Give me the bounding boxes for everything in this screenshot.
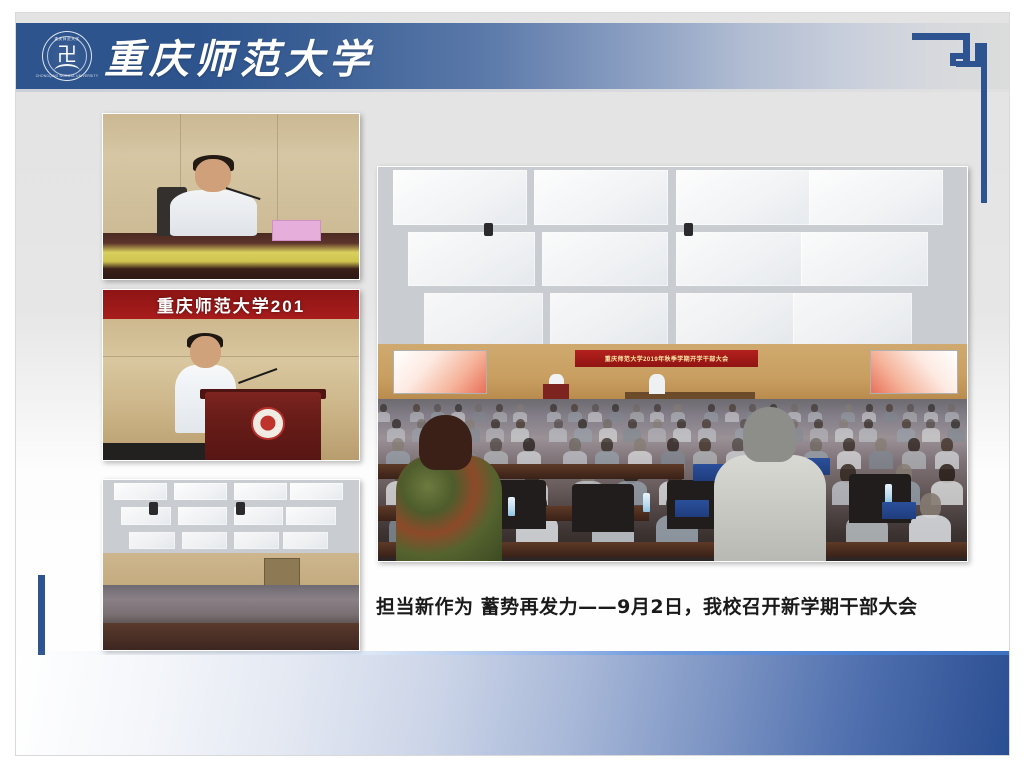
photo-hall-main: 重庆师范大学2019年秋季学期开学干部大会 (377, 166, 968, 562)
ceiling-light-panel (234, 483, 287, 500)
ceiling-speaker-icon (236, 502, 245, 515)
photo-speaker-table (102, 113, 360, 280)
water-bottle (643, 493, 650, 512)
ceiling-speaker-icon (484, 223, 493, 236)
conference-chair (572, 484, 634, 533)
main-foreground-man (714, 455, 826, 561)
water-bottle (885, 484, 892, 503)
ceiling-light-panel (534, 170, 668, 225)
emblem-book-shape (54, 64, 80, 71)
audience-person-body (859, 428, 877, 442)
ceiling-light-panel (542, 232, 669, 287)
slide-caption: 担当新作为 蓄势再发力——9月2日，我校召开新学期干部大会 (376, 585, 976, 625)
ceiling-light-panel (286, 507, 335, 524)
ceiling-light-panel (283, 532, 328, 549)
audience-person-body (922, 428, 940, 442)
ceiling-light-panel (809, 170, 943, 225)
audience-person-body (549, 428, 567, 442)
audience-person-body (869, 451, 893, 469)
ceiling-speaker-icon (684, 223, 693, 236)
photo1-name-card (272, 220, 321, 241)
ceiling-light-panel (676, 293, 795, 348)
delegate-name-card (675, 500, 709, 517)
ceiling-light-panel (424, 293, 543, 348)
ceiling-light-panel (121, 507, 170, 524)
ceiling-light-panel (182, 532, 227, 549)
ceiling-light-panel (393, 170, 527, 225)
delegate-name-card (882, 502, 916, 519)
main-ceiling-grid (378, 167, 967, 352)
ceiling-light-panel (408, 232, 535, 287)
audience-person-body (377, 412, 390, 423)
ceiling-light-panel (550, 293, 669, 348)
ceiling-light-panel (801, 232, 928, 287)
ceiling-light-panel (114, 483, 167, 500)
audience-person-body (725, 412, 739, 423)
main-foreground-man-hair (743, 407, 796, 462)
main-foreground-woman (396, 455, 502, 561)
ceiling-light-panel (174, 483, 227, 500)
bottom-gradient-band (16, 655, 1010, 755)
audience-person-body (588, 412, 602, 423)
water-bottle (508, 497, 515, 516)
photo1-desk (103, 233, 359, 279)
ceiling-light-panel (234, 532, 279, 549)
audience-person (939, 464, 955, 482)
photo3-ceiling-grid (103, 480, 359, 553)
presentation-slide: 重庆师范大学 卍 CHONGQING NORMAL UNIVERSITY 重庆师… (15, 12, 1010, 756)
emblem-bottom-text: CHONGQING NORMAL UNIVERSITY (36, 74, 99, 78)
main-stage-host (649, 374, 665, 394)
photo2-red-banner: 重庆师范大学201 (103, 290, 359, 319)
ceiling-light-panel (793, 293, 912, 348)
photo2-speaker-head (190, 336, 221, 368)
audience-person-body (883, 412, 897, 423)
ceiling-light-panel (676, 232, 803, 287)
main-stage-banner: 重庆师范大学2019年秋季学期开学干部大会 (575, 350, 758, 367)
emblem-center-mark: 卍 (57, 44, 77, 64)
ceiling-light-panel (676, 170, 810, 225)
photo-podium-speech: 重庆师范大学201 (102, 289, 360, 461)
ceiling-light-panel (290, 483, 343, 500)
photo2-podium-emblem-icon (251, 407, 284, 439)
audience-person-body (648, 428, 666, 442)
main-projection-screen-left (393, 350, 487, 393)
university-emblem-icon: 重庆师范大学 卍 CHONGQING NORMAL UNIVERSITY (42, 31, 92, 81)
ceiling-light-panel (178, 507, 227, 524)
photo2-floor (103, 443, 205, 460)
ceiling-speaker-icon (149, 502, 158, 515)
university-name-title: 重庆师范大学 (104, 27, 374, 85)
main-projection-screen-right (870, 350, 958, 393)
ceiling-light-panel (129, 532, 174, 549)
main-foreground-woman-hair (419, 415, 472, 470)
slide-header-bar: 重庆师范大学 卍 CHONGQING NORMAL UNIVERSITY 重庆师… (16, 23, 1010, 89)
photo1-speaker-body (170, 190, 257, 236)
audience-person (920, 493, 941, 517)
